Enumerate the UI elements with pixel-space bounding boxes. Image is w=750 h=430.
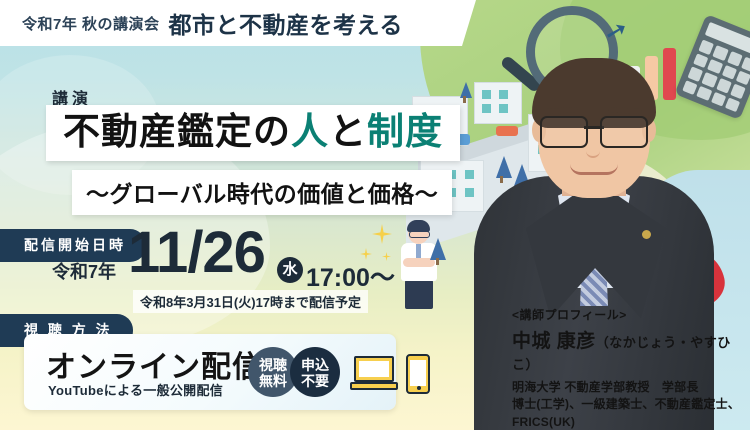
seminar-banner: ➚ ¥ bbox=[0, 0, 750, 430]
title-part-2: の bbox=[253, 111, 291, 152]
profile-credentials: 博士(工学)、一級建築士、不動産鑑定士、 bbox=[512, 396, 750, 413]
profile-heading: <講師プロフィール> bbox=[512, 306, 750, 323]
title-accent-2: 制度 bbox=[367, 111, 443, 152]
smartphone-icon bbox=[406, 354, 430, 394]
title-part-1: 不動産鑑定 bbox=[63, 111, 253, 152]
tree-icon bbox=[430, 238, 446, 260]
badge-no-registration: 申込 不要 bbox=[290, 347, 340, 397]
profile-affiliation: 明海大学 不動産学部教授 学部長 bbox=[512, 379, 750, 396]
lecture-subtitle: 〜グローバル時代の価値と価格〜 bbox=[86, 175, 438, 209]
lecture-subtitle-box: 〜グローバル時代の価値と価格〜 bbox=[72, 170, 452, 215]
badge-noreg-line2: 不要 bbox=[301, 373, 329, 389]
schedule-era-year: 令和7年 bbox=[52, 258, 116, 284]
header-era-label: 令和7年 秋の講演会 bbox=[22, 13, 160, 34]
businessman-illustration bbox=[395, 222, 443, 308]
header-main-title: 都市と不動産を考える bbox=[169, 6, 403, 40]
schedule-note: 令和8年3月31日(火)17時まで配信予定 bbox=[133, 290, 368, 313]
header-band: 令和7年 秋の講演会 都市と不動産を考える bbox=[0, 0, 462, 46]
badge-free-line1: 視聴 bbox=[259, 357, 287, 373]
schedule-row: 令和7年 11/26 水 17:00〜 bbox=[0, 232, 400, 294]
profile-name: 中城 康彦（なかじょう・やすひこ） bbox=[512, 326, 750, 375]
eyeglasses bbox=[540, 116, 648, 144]
viewing-platform-note: YouTubeによる一般公開配信 bbox=[48, 380, 223, 399]
badge-noreg-line1: 申込 bbox=[301, 357, 329, 373]
viewing-card: オンライン配信 YouTubeによる一般公開配信 視聴 無料 申込 不要 bbox=[24, 334, 396, 410]
laptop-icon bbox=[350, 356, 398, 392]
speaker-profile: <講師プロフィール> 中城 康彦（なかじょう・やすひこ） 明海大学 不動産学部教… bbox=[512, 306, 750, 430]
page-title: 不動産鑑定の人と制度 bbox=[63, 112, 443, 152]
profile-credentials-2: FRICS(UK) bbox=[512, 414, 750, 430]
schedule-time: 17:00〜 bbox=[306, 258, 395, 294]
tree-trunk bbox=[436, 258, 439, 265]
lecture-title-box: 不動産鑑定の人と制度 bbox=[46, 105, 460, 161]
title-part-3: と bbox=[329, 111, 367, 152]
title-accent-1: 人 bbox=[291, 111, 329, 152]
schedule-day-of-week: 水 bbox=[277, 257, 303, 283]
schedule-date: 11/26 bbox=[128, 224, 265, 282]
lapel-pin bbox=[642, 230, 651, 239]
profile-name-kanji: 中城 康彦 bbox=[512, 331, 596, 352]
badge-free-line2: 無料 bbox=[259, 373, 287, 389]
